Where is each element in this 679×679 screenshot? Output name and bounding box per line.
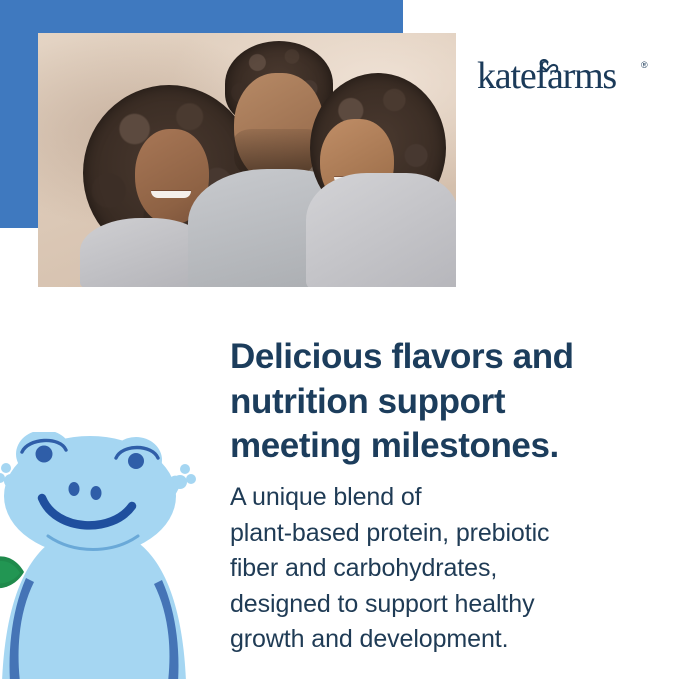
frog-right-finger-2 xyxy=(180,464,190,474)
frog-mascot xyxy=(0,432,218,679)
frog-left-nostril xyxy=(69,482,80,496)
frog-right-hand xyxy=(173,475,187,489)
ad-canvas: katefarms ® Delicious flavors and nutrit… xyxy=(0,0,679,679)
body-line-2: plant-based protein, prebiotic xyxy=(230,519,549,547)
headline-line-2: nutrition support xyxy=(230,382,505,421)
frog-right-finger-1 xyxy=(186,474,196,484)
frog-illustration xyxy=(0,432,196,679)
headline-line-3: meeting milestones. xyxy=(230,426,559,465)
trademark-symbol: ® xyxy=(641,60,648,70)
person-daughter-torso xyxy=(306,173,456,287)
brand-logo: katefarms ® xyxy=(477,50,657,96)
body-copy: A unique blend of plant-based protein, p… xyxy=(230,480,635,658)
frog-left-eye xyxy=(36,446,53,463)
frog-left-finger-2 xyxy=(1,463,11,473)
body-line-4: designed to support healthy xyxy=(230,590,534,618)
frog-right-eye xyxy=(128,453,144,469)
body-line-1: A unique blend of xyxy=(230,483,422,511)
brand-wordmark: katefarms xyxy=(477,55,616,96)
hero-photo xyxy=(38,33,456,287)
body-line-5: growth and development. xyxy=(230,625,508,653)
person-mother-smile xyxy=(151,191,191,198)
headline: Delicious flavors and nutrition support … xyxy=(230,335,635,468)
headline-line-1: Delicious flavors and xyxy=(230,337,574,376)
frog-right-nostril xyxy=(91,486,102,500)
body-line-3: fiber and carbohydrates, xyxy=(230,554,497,582)
